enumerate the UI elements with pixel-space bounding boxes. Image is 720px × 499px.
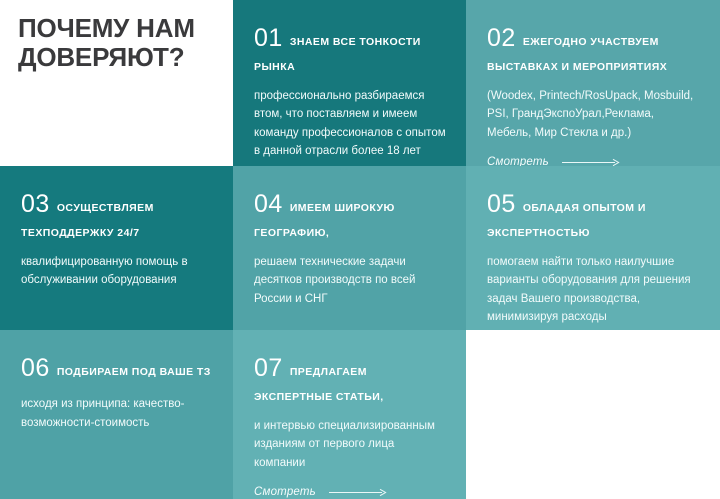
card-cell-01: 01ЗНАЕМ ВСЕ ТОНКОСТИ РЫНКА профессиональ…: [233, 0, 466, 166]
card-body-02: (Woodex, Printech/RosUpack, Mosbuild, PS…: [487, 87, 700, 143]
card-number-05: 05: [487, 190, 516, 218]
page-title: ПОЧЕМУ НАМ ДОВЕРЯЮТ?: [18, 14, 211, 73]
card-header-07: 07ПРЕДЛАГАЕМ ЭКСПЕРТНЫЕ СТАТЬИ,: [254, 352, 446, 407]
card-cell-05: 05ОБЛАДАЯ ОПЫТОМ И ЭКСПЕРТНОСТЬЮ помогае…: [466, 166, 720, 330]
feature-card-06[interactable]: 06ПОДБИРАЕМ ПОД ВАШЕ ТЗ исходя из принци…: [0, 330, 233, 499]
feature-card-04[interactable]: 04ИМЕЕМ ШИРОКУЮ ГЕОГРАФИЮ, решаем технич…: [233, 166, 466, 330]
feature-grid: ПОЧЕМУ НАМ ДОВЕРЯЮТ? 01ЗНАЕМ ВСЕ ТОНКОСТ…: [0, 0, 720, 499]
card-cell-02: 02ЕЖЕГОДНО УЧАСТВУЕМ ВЫСТАВКАХ И МЕРОПРИ…: [466, 0, 720, 166]
card-header-03: 03ОСУЩЕСТВЛЯЕМ ТЕХПОДДЕРЖКУ 24/7: [21, 188, 213, 243]
card-cell-04: 04ИМЕЕМ ШИРОКУЮ ГЕОГРАФИЮ, решаем технич…: [233, 166, 466, 330]
feature-card-05[interactable]: 05ОБЛАДАЯ ОПЫТОМ И ЭКСПЕРТНОСТЬЮ помогае…: [466, 166, 720, 330]
card-body-01: профессионально разбираемся втом, что по…: [254, 87, 446, 162]
card-body-04: решаем технические задачи десятков произ…: [254, 253, 446, 309]
card-link-02[interactable]: Смотреть: [487, 156, 620, 166]
card-header-01: 01ЗНАЕМ ВСЕ ТОНКОСТИ РЫНКА: [254, 22, 446, 77]
card-number-07: 07: [254, 354, 283, 382]
card-body-03: квалифицированную помощь в обслуживании …: [21, 253, 213, 290]
card-header-02: 02ЕЖЕГОДНО УЧАСТВУЕМ ВЫСТАВКАХ И МЕРОПРИ…: [487, 22, 700, 77]
feature-card-07[interactable]: 07ПРЕДЛАГАЕМ ЭКСПЕРТНЫЕ СТАТЬИ, и интерв…: [233, 330, 466, 499]
card-cell-07: 07ПРЕДЛАГАЕМ ЭКСПЕРТНЫЕ СТАТЬИ, и интерв…: [233, 330, 466, 499]
card-body-06: исходя из принципа: качество-возможности…: [21, 395, 213, 432]
feature-card-03[interactable]: 03ОСУЩЕСТВЛЯЕМ ТЕХПОДДЕРЖКУ 24/7 квалифи…: [0, 166, 233, 330]
card-heading-06: ПОДБИРАЕМ ПОД ВАШЕ ТЗ: [57, 366, 211, 378]
card-link-label-02: Смотреть: [487, 156, 549, 166]
feature-card-02[interactable]: 02ЕЖЕГОДНО УЧАСТВУЕМ ВЫСТАВКАХ И МЕРОПРИ…: [466, 0, 720, 166]
arrow-right-icon: [329, 488, 387, 497]
empty-cell: [466, 330, 720, 499]
card-cell-06: 06ПОДБИРАЕМ ПОД ВАШЕ ТЗ исходя из принци…: [0, 330, 233, 499]
feature-card-01[interactable]: 01ЗНАЕМ ВСЕ ТОНКОСТИ РЫНКА профессиональ…: [233, 0, 466, 166]
card-body-05: помогаем найти только наилучшие варианты…: [487, 253, 700, 328]
arrow-right-icon: [562, 158, 620, 166]
card-number-01: 01: [254, 24, 283, 52]
card-header-05: 05ОБЛАДАЯ ОПЫТОМ И ЭКСПЕРТНОСТЬЮ: [487, 188, 700, 243]
card-cell-03: 03ОСУЩЕСТВЛЯЕМ ТЕХПОДДЕРЖКУ 24/7 квалифи…: [0, 166, 233, 330]
card-header-04: 04ИМЕЕМ ШИРОКУЮ ГЕОГРАФИЮ,: [254, 188, 446, 243]
card-body-07: и интервью специализированным изданиям о…: [254, 417, 446, 473]
card-number-03: 03: [21, 190, 50, 218]
card-link-07[interactable]: Смотреть: [254, 486, 387, 498]
card-number-04: 04: [254, 190, 283, 218]
title-cell: ПОЧЕМУ НАМ ДОВЕРЯЮТ?: [0, 0, 233, 166]
card-header-06: 06ПОДБИРАЕМ ПОД ВАШЕ ТЗ: [21, 352, 213, 385]
card-number-06: 06: [21, 354, 50, 382]
card-link-label-07: Смотреть: [254, 486, 316, 498]
card-number-02: 02: [487, 24, 516, 52]
